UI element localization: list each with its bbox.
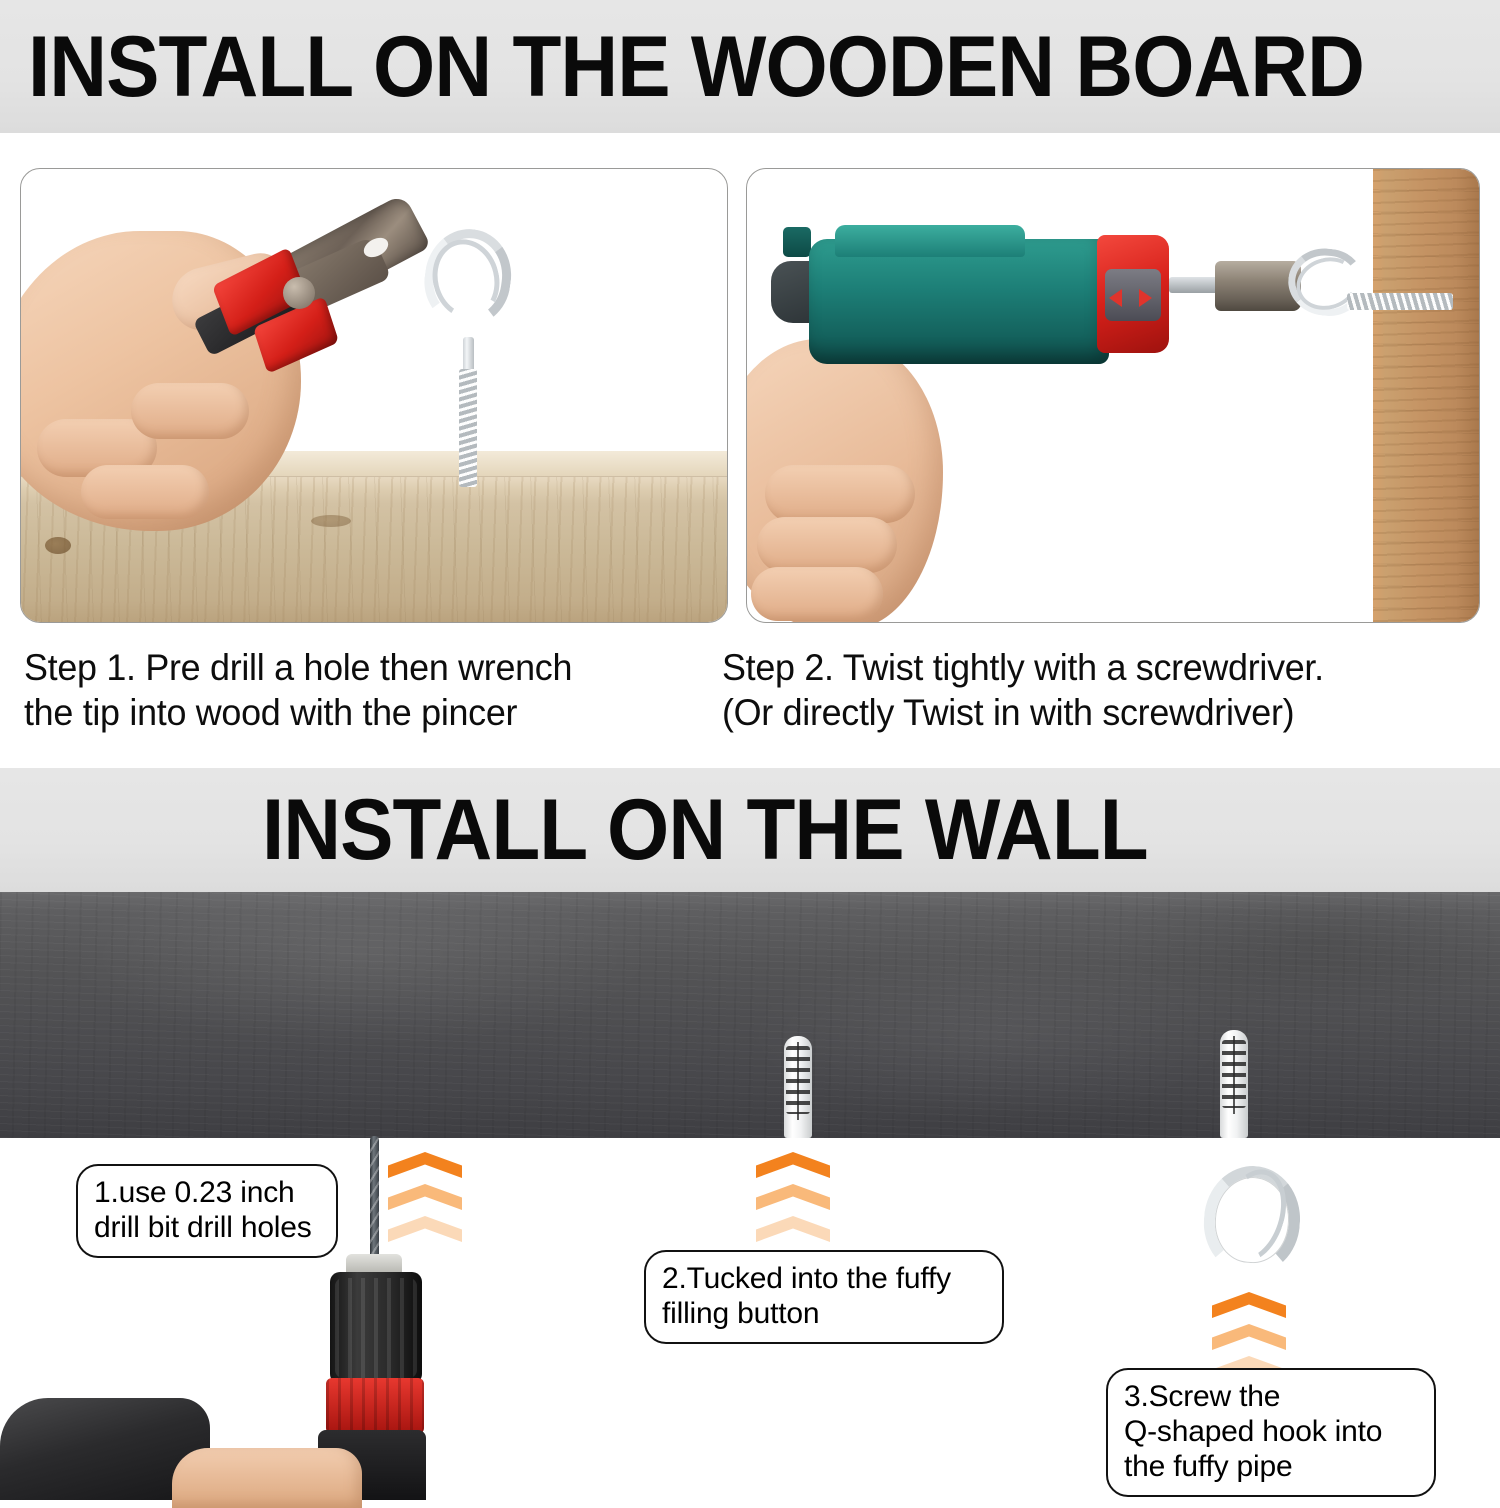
drill-clutch-ring — [326, 1378, 424, 1434]
section-header-wooden-board: INSTALL ON THE WOODEN BOARD — [0, 0, 1500, 133]
drill-bit-icon — [370, 1136, 379, 1260]
step-2-caption: Step 2. Twist tightly with a screwdriver… — [722, 645, 1469, 735]
heading-install-wooden-board: INSTALL ON THE WOODEN BOARD — [28, 24, 1364, 110]
chevron-up-icon — [756, 1184, 830, 1210]
arrow-left-icon — [1109, 289, 1122, 307]
callout-3: 3.Screw the Q-shaped hook into the fuffy… — [1106, 1368, 1436, 1497]
finger — [81, 465, 209, 519]
section-header-wall: INSTALL ON THE WALL — [0, 768, 1500, 892]
chevron-arrows-up — [388, 1152, 462, 1248]
chevron-arrows-up — [756, 1152, 830, 1248]
wooden-board-illustration — [1373, 169, 1479, 623]
chevron-up-icon — [756, 1216, 830, 1242]
step-1-caption: Step 1. Pre drill a hole then wrench the… — [24, 645, 703, 735]
chevron-up-icon — [388, 1216, 462, 1242]
concrete-wall-illustration — [0, 892, 1500, 1138]
chevron-up-icon — [1212, 1324, 1286, 1350]
q-hook-icon — [1196, 1128, 1316, 1298]
step-2-photo-panel — [746, 168, 1480, 623]
drill-bit-shaft — [1169, 277, 1219, 293]
hand-illustration — [172, 1448, 362, 1508]
callout-2: 2.Tucked into the fuffy filling button — [644, 1250, 1004, 1344]
finger — [131, 383, 249, 439]
finger — [765, 465, 915, 523]
wood-knot-icon — [45, 537, 71, 554]
chevron-up-icon — [1212, 1292, 1286, 1318]
wall-plug-icon — [784, 1036, 812, 1138]
chevron-up-icon — [388, 1152, 462, 1178]
hook-threads — [459, 369, 477, 487]
cordless-drill-chuck — [330, 1272, 422, 1384]
chevron-up-icon — [388, 1184, 462, 1210]
step-1-photo-panel — [20, 168, 728, 623]
pliers-pivot-icon — [283, 277, 315, 309]
hook-shank — [463, 337, 474, 373]
q-screw-hook-icon — [421, 229, 517, 349]
arrow-right-icon — [1139, 289, 1152, 307]
wood-knot-icon — [311, 515, 351, 527]
chevron-up-icon — [756, 1152, 830, 1178]
drill-vent-icon — [783, 227, 811, 257]
electric-screwdriver-body — [809, 239, 1109, 364]
drill-top-ridges — [835, 225, 1025, 257]
callout-1: 1.use 0.23 inch drill bit drill holes — [76, 1164, 338, 1258]
finger — [757, 517, 897, 573]
wall-plug-icon — [1220, 1030, 1248, 1138]
hook-threads — [1347, 293, 1453, 310]
heading-install-wall: INSTALL ON THE WALL — [262, 787, 1148, 873]
finger — [751, 567, 883, 621]
